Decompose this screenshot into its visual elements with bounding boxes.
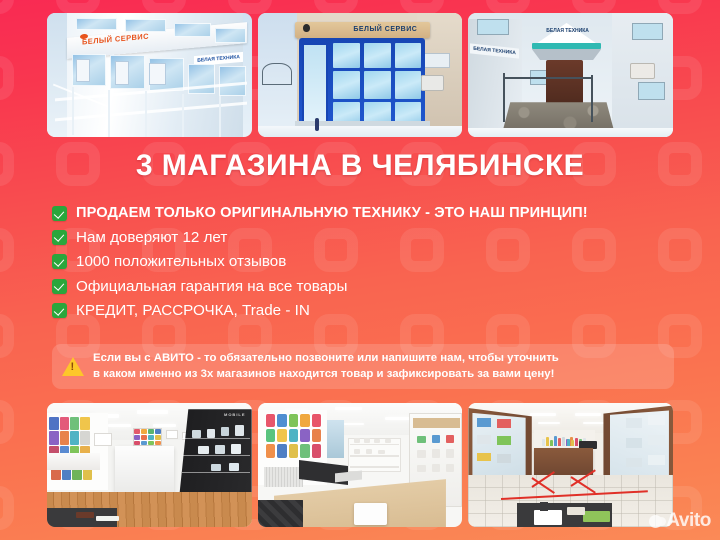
list-item: Нам доверяют 12 лет <box>52 229 674 246</box>
apple-logo-icon <box>303 24 310 32</box>
top-photo-row: БЕЛЫЙ СЕРВИС БЕЛАЯ ТЕХНИКА <box>47 13 673 137</box>
warning-line-1: Если вы с АВИТО - то обязательно позвони… <box>93 352 559 364</box>
check-icon <box>52 303 67 318</box>
photo-storefront-bely-servis-corner: БЕЛЫЙ СЕРВИС БЕЛАЯ ТЕХНИКА <box>47 13 252 137</box>
warning-triangle-icon <box>62 357 84 376</box>
warning-text: Если вы с АВИТО - то обязательно позвони… <box>93 350 559 382</box>
list-item: Официальная гарантия на все товары <box>52 278 674 295</box>
photo-storefront-belaya-tehnika-entrance: БЕЛАЯ ТЕХНИКА БЕЛАЯ ТЕХНИКА <box>468 13 673 137</box>
benefit-text: ПРОДАЕМ ТОЛЬКО ОРИГИНАЛЬНУЮ ТЕХНИКУ - ЭТ… <box>76 205 588 222</box>
photo-interior-white-counter-wood-floor: MOBILE <box>47 403 252 527</box>
benefits-list: ПРОДАЕМ ТОЛЬКО ОРИГИНАЛЬНУЮ ТЕХНИКУ - ЭТ… <box>52 205 674 327</box>
check-icon <box>52 254 67 269</box>
photo3-sign-text: БЕЛАЯ ТЕХНИКА <box>542 29 593 35</box>
photo4-wall-logo: MOBILE <box>224 412 246 417</box>
photo2-sign-text: БЕЛЫЙ СЕРВИС <box>353 26 417 33</box>
page-title: 3 МАГАЗИНА В ЧЕЛЯБИНСКЕ <box>0 149 720 183</box>
photo-interior-wood-cabinets-tile-floor <box>468 403 673 527</box>
avito-logo-icon <box>649 515 662 528</box>
list-item: ПРОДАЕМ ТОЛЬКО ОРИГИНАЛЬНУЮ ТЕХНИКУ - ЭТ… <box>52 205 674 222</box>
avito-watermark-text: Avito <box>666 510 711 532</box>
check-icon <box>52 230 67 245</box>
benefit-text: Нам доверяют 12 лет <box>76 229 227 246</box>
photo-interior-app-icon-wall-long-counter <box>258 403 463 527</box>
list-item: КРЕДИТ, РАССРОЧКА, Trade - IN <box>52 302 674 319</box>
avito-watermark: Avito <box>649 510 711 532</box>
photo-storefront-bely-servis-blue-facade: БЕЛЫЙ СЕРВИС <box>258 13 463 137</box>
check-icon <box>52 206 67 221</box>
bottom-photo-row: MOBILE <box>47 403 673 527</box>
benefit-text: Официальная гарантия на все товары <box>76 278 347 295</box>
ad-banner: БЕЛЫЙ СЕРВИС БЕЛАЯ ТЕХНИКА <box>0 0 720 540</box>
photo1-sign-secondary: БЕЛАЯ ТЕХНИКА <box>198 54 241 64</box>
check-icon <box>52 279 67 294</box>
benefit-text: КРЕДИТ, РАССРОЧКА, Trade - IN <box>76 302 310 319</box>
list-item: 1000 положительных отзывов <box>52 253 674 270</box>
warning-line-2: в каком именно из 3х магазинов находится… <box>93 368 554 380</box>
warning-callout: Если вы с АВИТО - то обязательно позвони… <box>52 344 674 389</box>
benefit-text: 1000 положительных отзывов <box>76 253 286 270</box>
